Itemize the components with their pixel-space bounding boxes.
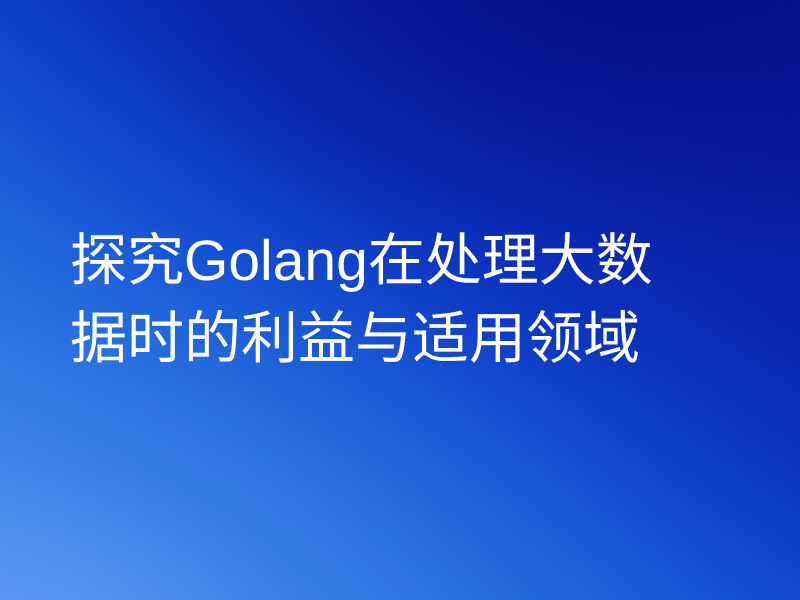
page-title-line-1: 探究Golang在处理大数 <box>70 222 730 300</box>
page-title: 探究Golang在处理大数 据时的利益与适用领域 <box>70 222 730 378</box>
title-card: 探究Golang在处理大数 据时的利益与适用领域 <box>0 0 800 600</box>
page-title-line-2: 据时的利益与适用领域 <box>70 300 730 378</box>
headline-container: 探究Golang在处理大数 据时的利益与适用领域 <box>0 0 800 600</box>
